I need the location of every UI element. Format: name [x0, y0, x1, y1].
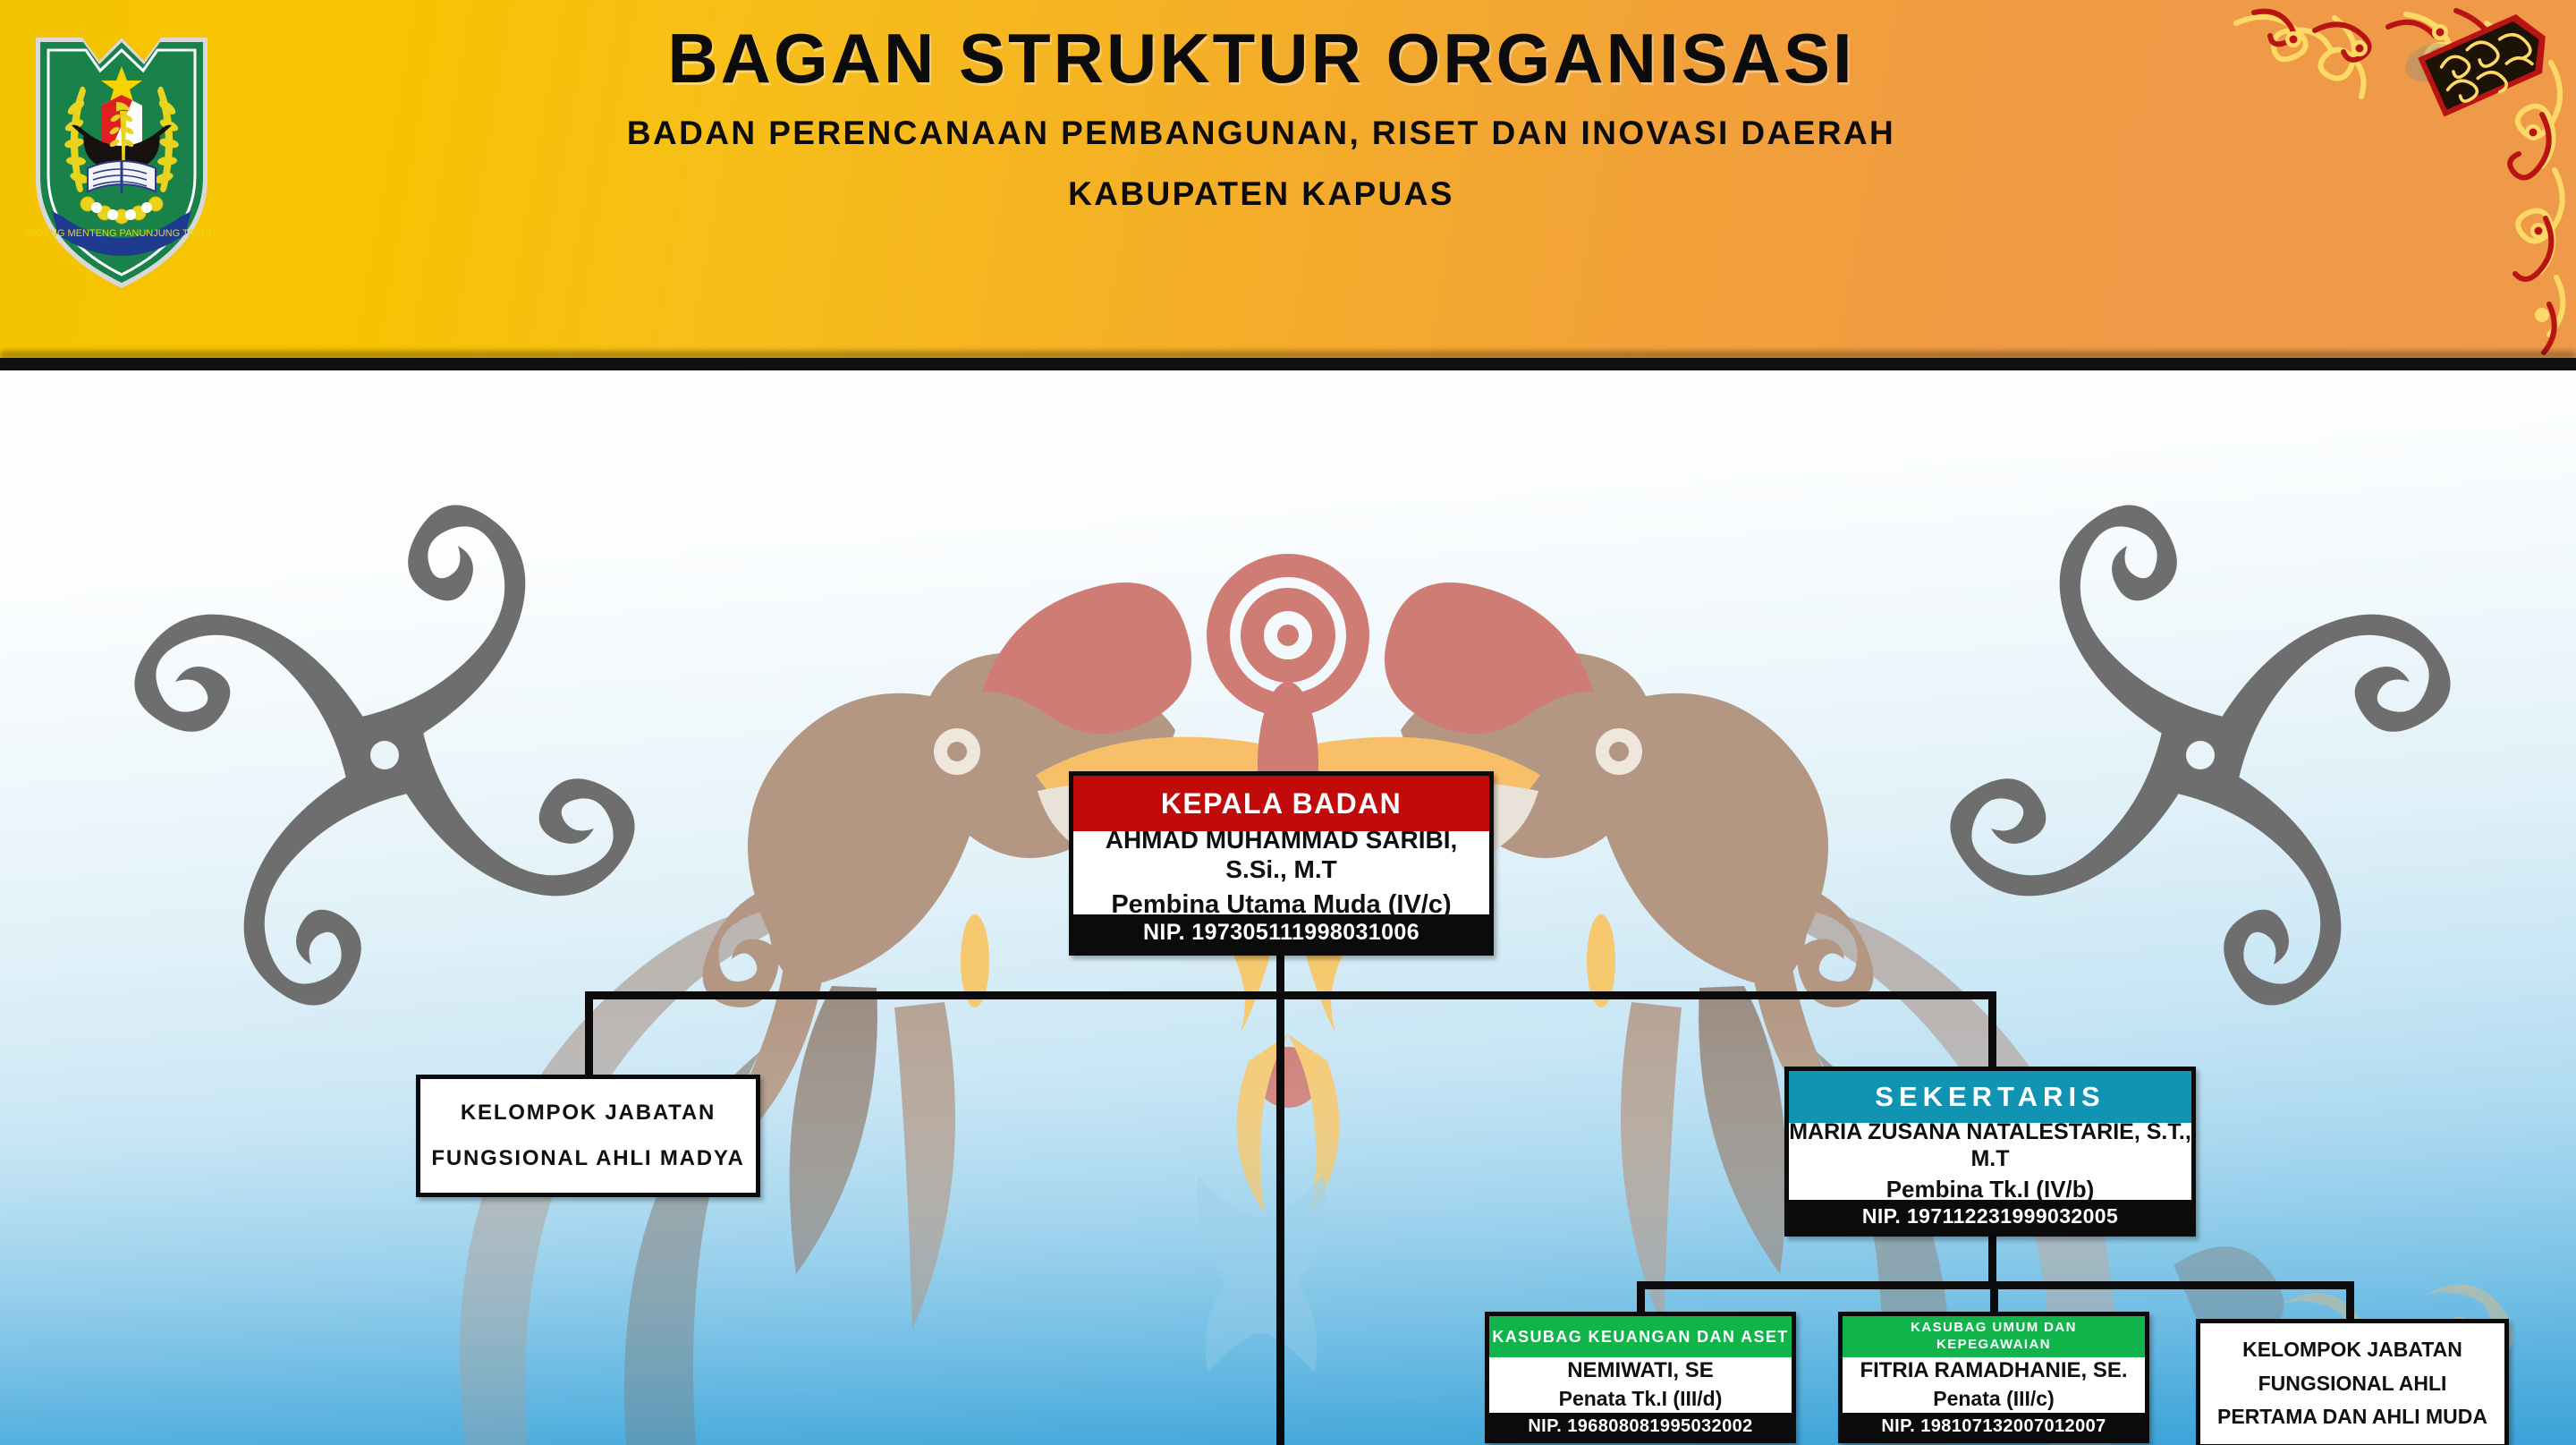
header-underline: [0, 358, 2576, 370]
header-shadow: [0, 351, 2576, 358]
node-kelompok-jabatan-sekretariat[interactable]: KELOMPOK JABATAN FUNGSIONAL AHLI PERTAMA…: [2196, 1319, 2509, 1445]
kasubag-keuangan-nip: NIP. 196808081995032002: [1489, 1413, 1792, 1441]
kasubag-umum-nip: NIP. 198107132007012007: [1843, 1413, 2145, 1441]
kelompok-sekretariat-line-2: FUNGSIONAL AHLI: [2258, 1367, 2447, 1401]
page-subtitle-2: KABUPATEN KAPUAS: [1068, 175, 1454, 213]
kelompok-sekretariat-line-3: PERTAMA DAN AHLI MUDA: [2217, 1400, 2487, 1434]
line-drop-kasubag-umum: [1990, 1281, 1998, 1313]
line-drop-kasubag-keuangan: [1637, 1281, 1645, 1313]
kasubag-umum-name: FITRIA RAMADHANIE, SE.: [1860, 1358, 2127, 1384]
kelompok-sekretariat-line-1: KELOMPOK JABATAN: [2242, 1333, 2462, 1367]
page-title: BAGAN STRUKTUR ORGANISASI: [667, 23, 1854, 95]
madya-line-1: KELOMPOK JABATAN: [461, 1091, 716, 1135]
kasubag-umum-rank: Penata (III/c): [1933, 1386, 2054, 1412]
organization-chart-poster: TINGANG MENTENG PANUNJUNG TARUNG BAGAN S…: [0, 0, 2576, 1445]
line-drop-sekertaris: [1988, 991, 1996, 1068]
madya-line-2: FUNGSIONAL AHLI MADYA: [431, 1136, 744, 1181]
node-kepala-badan[interactable]: KEPALA BADAN AHMAD MUHAMMAD SARIBI, S.Si…: [1069, 771, 1494, 956]
kasubag-keuangan-name: NEMIWATI, SE: [1567, 1358, 1714, 1384]
node-kasubag-keuangan-dan-aset[interactable]: KASUBAG KEUANGAN DAN ASET NEMIWATI, SE P…: [1485, 1312, 1796, 1443]
node-kasubag-umum-dan-kepegawaian[interactable]: KASUBAG UMUM DAN KEPEGAWAIAN FITRIA RAMA…: [1838, 1312, 2149, 1443]
sekertaris-title: SEKERTARIS: [1789, 1071, 2191, 1123]
line-sekertaris-trunk: [1988, 1237, 1996, 1287]
line-kepala-trunk: [1276, 956, 1284, 1445]
kasubag-umum-title-line-1: KASUBAG UMUM DAN: [1911, 1320, 2077, 1337]
crest-motto: TINGANG MENTENG PANUNJUNG TARUNG: [27, 228, 216, 239]
kepala-badan-title: KEPALA BADAN: [1073, 776, 1489, 831]
line-kepala-horizontal: [585, 991, 1996, 999]
sekertaris-rank: Pembina Tk.I (IV/b): [1886, 1175, 2095, 1204]
poster-header: TINGANG MENTENG PANUNJUNG TARUNG BAGAN S…: [0, 0, 2576, 358]
kasubag-keuangan-title: KASUBAG KEUANGAN DAN ASET: [1492, 1327, 1788, 1347]
node-sekertaris[interactable]: SEKERTARIS MARIA ZUSANA NATALESTARIE, S.…: [1784, 1067, 2196, 1237]
batik-corner-ornament-icon: [2200, 0, 2576, 358]
line-drop-madya: [585, 991, 593, 1076]
kapuas-regency-crest-icon: TINGANG MENTENG PANUNJUNG TARUNG: [27, 25, 216, 293]
kepala-badan-rank: Pembina Utama Muda (IV/c): [1111, 888, 1451, 921]
sekertaris-name: MARIA ZUSANA NATALESTARIE, S.T., M.T: [1789, 1118, 2191, 1172]
page-subtitle-1: BADAN PERENCANAAN PEMBANGUNAN, RISET DAN…: [627, 115, 1895, 152]
kepala-badan-name: AHMAD MUHAMMAD SARIBI, S.Si., M.T: [1073, 825, 1489, 885]
kasubag-keuangan-rank: Penata Tk.I (III/d): [1559, 1386, 1723, 1412]
header-title-block: BAGAN STRUKTUR ORGANISASI BADAN PERENCAN…: [233, 9, 2290, 349]
node-kelompok-jabatan-ahli-madya[interactable]: KELOMPOK JABATAN FUNGSIONAL AHLI MADYA: [416, 1075, 760, 1197]
sekertaris-nip: NIP. 197112231999032005: [1789, 1200, 2191, 1232]
kasubag-umum-title-line-2: KEPEGAWAIAN: [1936, 1337, 2051, 1354]
chart-canvas: KEPALA BADAN AHMAD MUHAMMAD SARIBI, S.Si…: [0, 370, 2576, 1445]
line-drop-kelompok-sekretariat: [2346, 1281, 2354, 1321]
